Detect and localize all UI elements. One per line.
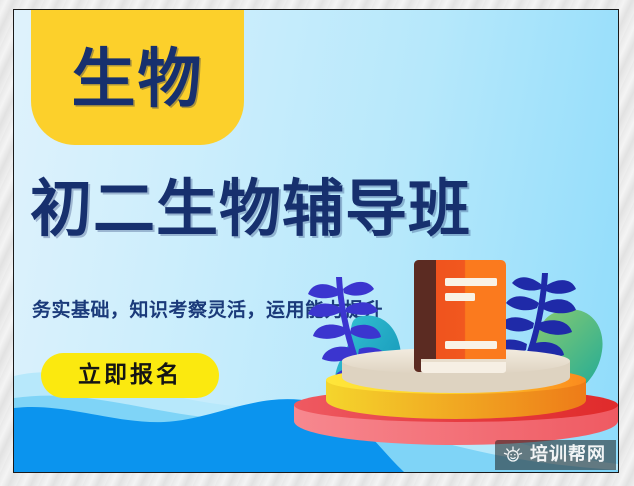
subject-badge-label: 生物 [72,48,204,112]
enroll-now-button[interactable]: 立即报名 [41,353,219,398]
subject-badge: 生物 [31,9,244,145]
course-banner: 生物 初二生物辅导班 务实基础，知识考察灵活，运用能力提升 立即报名 [13,9,619,473]
enroll-now-label: 立即报名 [78,364,182,387]
site-watermark: 培训帮网 [495,440,616,470]
book-icon [414,260,506,373]
site-watermark-label: 培训帮网 [530,446,606,464]
book-podium-illustration [284,255,619,455]
page-title: 初二生物辅导班 [30,176,471,241]
page-canvas: 生物 初二生物辅导班 务实基础，知识考察灵活，运用能力提升 立即报名 [0,0,634,486]
smiling-sun-icon [503,445,523,465]
